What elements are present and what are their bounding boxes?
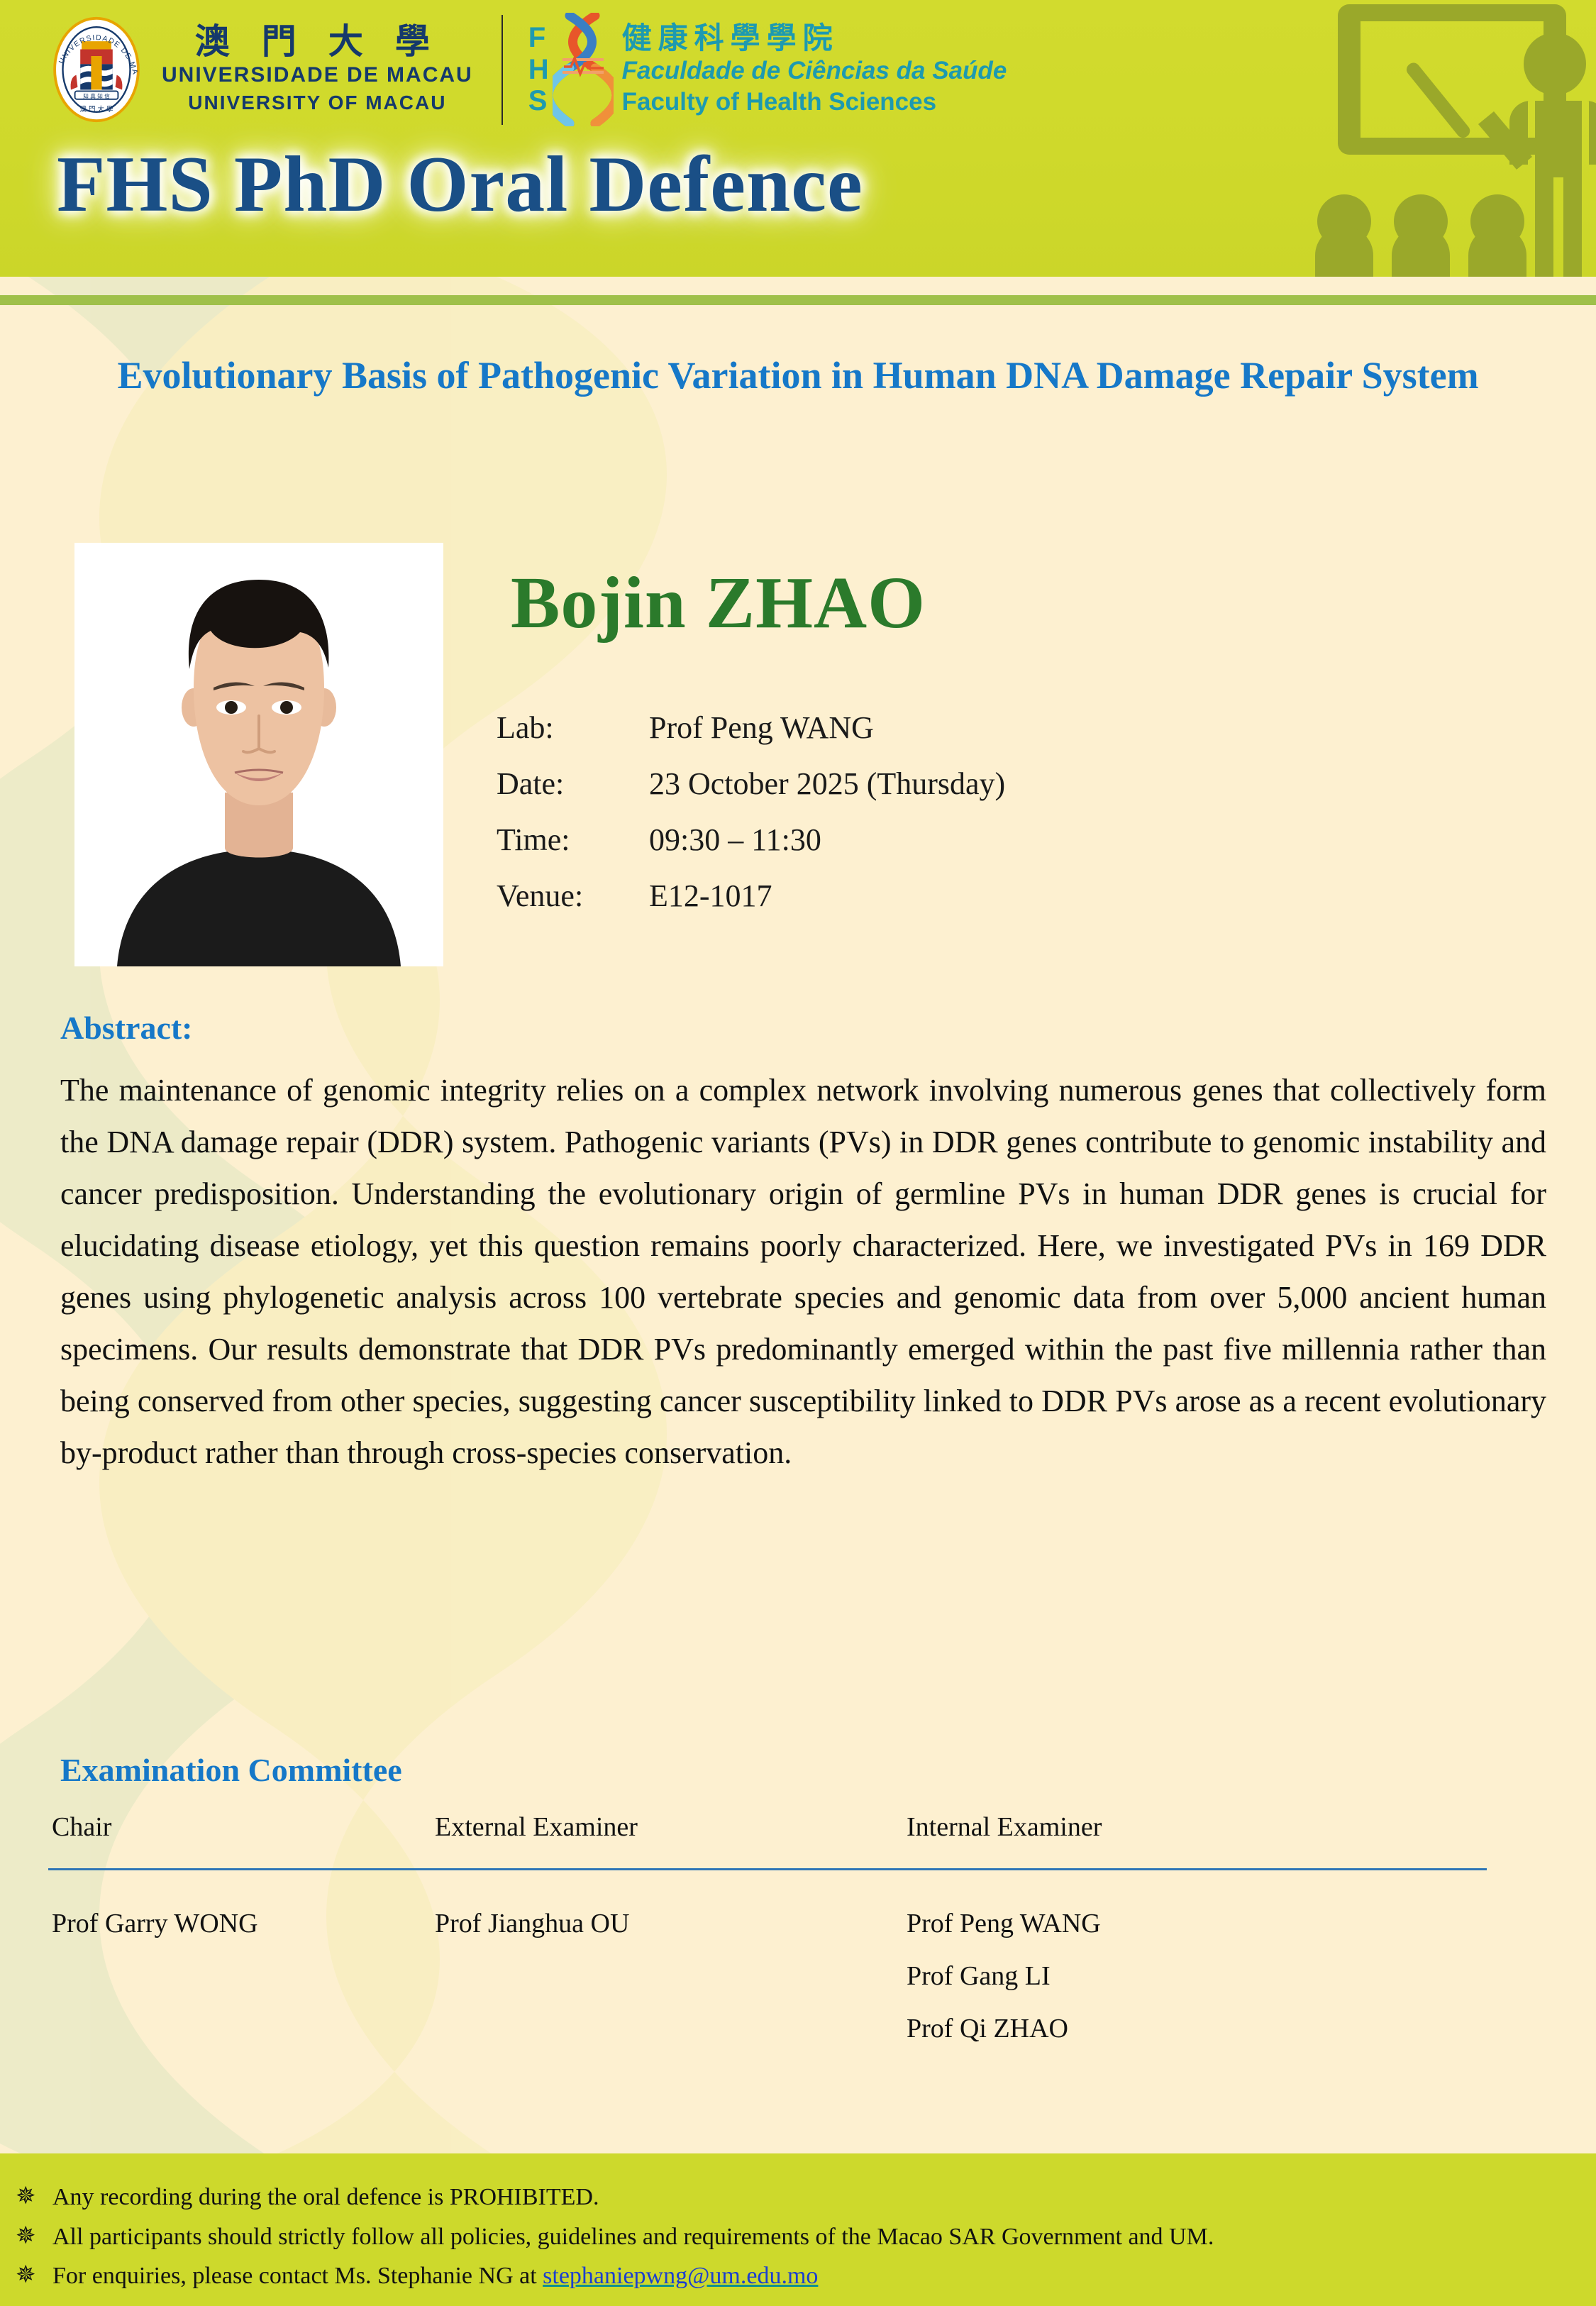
um-name-en: UNIVERSITY OF MACAU bbox=[188, 89, 446, 116]
abstract-text: The maintenance of genomic integrity rel… bbox=[60, 1064, 1546, 1479]
committee-divider bbox=[48, 1868, 1487, 1870]
talk-details: Lab: Prof Peng WANG Date: 23 October 202… bbox=[497, 710, 1005, 934]
column-header-chair: Chair bbox=[48, 1811, 435, 1843]
venue-value: E12-1017 bbox=[649, 878, 1005, 914]
time-label: Time: bbox=[497, 822, 649, 858]
chair-name: Prof Garry WONG bbox=[52, 1897, 435, 1950]
fhs-wordmark: 健康科學學院 Faculdade de Ciências da Saúde Fa… bbox=[622, 21, 1007, 118]
fhs-letter-h: H bbox=[528, 54, 550, 86]
university-of-macau-wordmark: 澳 門 大 學 UNIVERSIDADE DE MACAU UNIVERSITY… bbox=[162, 23, 473, 116]
fhs-letter-f: F bbox=[528, 22, 550, 54]
lab-value: Prof Peng WANG bbox=[649, 710, 1005, 746]
logo-separator-divider bbox=[501, 15, 503, 125]
poster-banner-title: FHS PhD Oral Defence bbox=[57, 139, 863, 231]
speaker-name: Bojin ZHAO bbox=[511, 561, 926, 645]
internal-examiner-name-1: Prof Peng WANG bbox=[907, 1897, 1552, 1950]
dna-helix-icon bbox=[553, 13, 614, 126]
fhs-acronym: F H S bbox=[528, 22, 550, 117]
asterisk-bullet-icon: ✵ bbox=[16, 2185, 52, 2209]
detail-row-lab: Lab: Prof Peng WANG bbox=[497, 710, 1005, 746]
page-header: 知 真 知 信 澳 門 大 學 UNIVERSIDADE DE MACAU 澳 … bbox=[0, 0, 1596, 277]
column-header-internal-examiner: Internal Examiner bbox=[907, 1811, 1552, 1843]
um-name-cn: 澳 門 大 學 bbox=[195, 23, 440, 61]
asterisk-bullet-icon: ✵ bbox=[16, 2224, 52, 2249]
abstract-heading: Abstract: bbox=[60, 1009, 193, 1047]
page-footer: ✵ Any recording during the oral defence … bbox=[0, 2153, 1596, 2306]
footer-note-2-text: All participants should strictly follow … bbox=[52, 2224, 1214, 2250]
fhs-name-pt: Faculdade de Ciências da Saúde bbox=[622, 55, 1007, 87]
asterisk-bullet-icon: ✵ bbox=[16, 2263, 52, 2288]
chair-cell: Prof Garry WONG bbox=[48, 1897, 435, 2055]
internal-examiner-cell: Prof Peng WANG Prof Gang LI Prof Qi ZHAO bbox=[907, 1897, 1552, 2055]
date-value: 23 October 2025 (Thursday) bbox=[649, 766, 1005, 802]
lecture-illustration-icon bbox=[1241, 0, 1596, 277]
detail-row-time: Time: 09:30 – 11:30 bbox=[497, 822, 1005, 858]
column-header-external-examiner: External Examiner bbox=[435, 1811, 907, 1843]
fhs-name-cn: 健康科學學院 bbox=[622, 21, 1007, 55]
internal-examiner-name-3: Prof Qi ZHAO bbox=[907, 2002, 1552, 2055]
svg-text:澳 門 大 學: 澳 門 大 學 bbox=[79, 105, 113, 114]
fhs-letter-s: S bbox=[528, 85, 550, 117]
poster-page: 知 真 知 信 澳 門 大 學 UNIVERSIDADE DE MACAU 澳 … bbox=[0, 0, 1596, 2306]
committee-heading: Examination Committee bbox=[60, 1751, 402, 1789]
fhs-name-en: Faculty of Health Sciences bbox=[622, 87, 1007, 118]
committee-header-row: Chair External Examiner Internal Examine… bbox=[48, 1811, 1552, 1843]
university-of-macau-seal-icon: 知 真 知 信 澳 門 大 學 UNIVERSIDADE DE MACAU bbox=[43, 16, 150, 123]
venue-label: Venue: bbox=[497, 878, 649, 914]
header-bottom-rule bbox=[0, 295, 1596, 305]
internal-examiner-name-2: Prof Gang LI bbox=[907, 1950, 1552, 2002]
lab-label: Lab: bbox=[497, 710, 649, 746]
svg-text:知 真 知 信: 知 真 知 信 bbox=[83, 92, 110, 99]
committee-body-row: Prof Garry WONG Prof Jianghua OU Prof Pe… bbox=[48, 1897, 1552, 2055]
external-examiner-name: Prof Jianghua OU bbox=[435, 1897, 907, 1950]
footer-note-3-text: For enquiries, please contact Ms. Stepha… bbox=[52, 2263, 1214, 2289]
footer-note-1: ✵ Any recording during the oral defence … bbox=[16, 2185, 1214, 2210]
time-value: 09:30 – 11:30 bbox=[649, 822, 1005, 858]
date-label: Date: bbox=[497, 766, 649, 802]
logo-row: 知 真 知 信 澳 門 大 學 UNIVERSIDADE DE MACAU 澳 … bbox=[43, 6, 1007, 133]
footer-notes: ✵ Any recording during the oral defence … bbox=[16, 2185, 1214, 2303]
um-name-pt: UNIVERSIDADE DE MACAU bbox=[162, 61, 473, 90]
contact-email-link[interactable]: stephaniepwng@um.edu.mo bbox=[543, 2263, 818, 2289]
footer-note-2: ✵ All participants should strictly follo… bbox=[16, 2224, 1214, 2250]
detail-row-date: Date: 23 October 2025 (Thursday) bbox=[497, 766, 1005, 802]
external-examiner-cell: Prof Jianghua OU bbox=[435, 1897, 907, 2055]
footer-note-1-text: Any recording during the oral defence is… bbox=[52, 2185, 1214, 2210]
detail-row-venue: Venue: E12-1017 bbox=[497, 878, 1005, 914]
speaker-photo bbox=[74, 543, 443, 966]
page-title: Evolutionary Basis of Pathogenic Variati… bbox=[39, 353, 1557, 399]
footer-note-3: ✵ For enquiries, please contact Ms. Step… bbox=[16, 2263, 1214, 2289]
committee-table: Chair External Examiner Internal Examine… bbox=[48, 1811, 1552, 2055]
contact-prefix: For enquiries, please contact Ms. Stepha… bbox=[52, 2263, 543, 2289]
